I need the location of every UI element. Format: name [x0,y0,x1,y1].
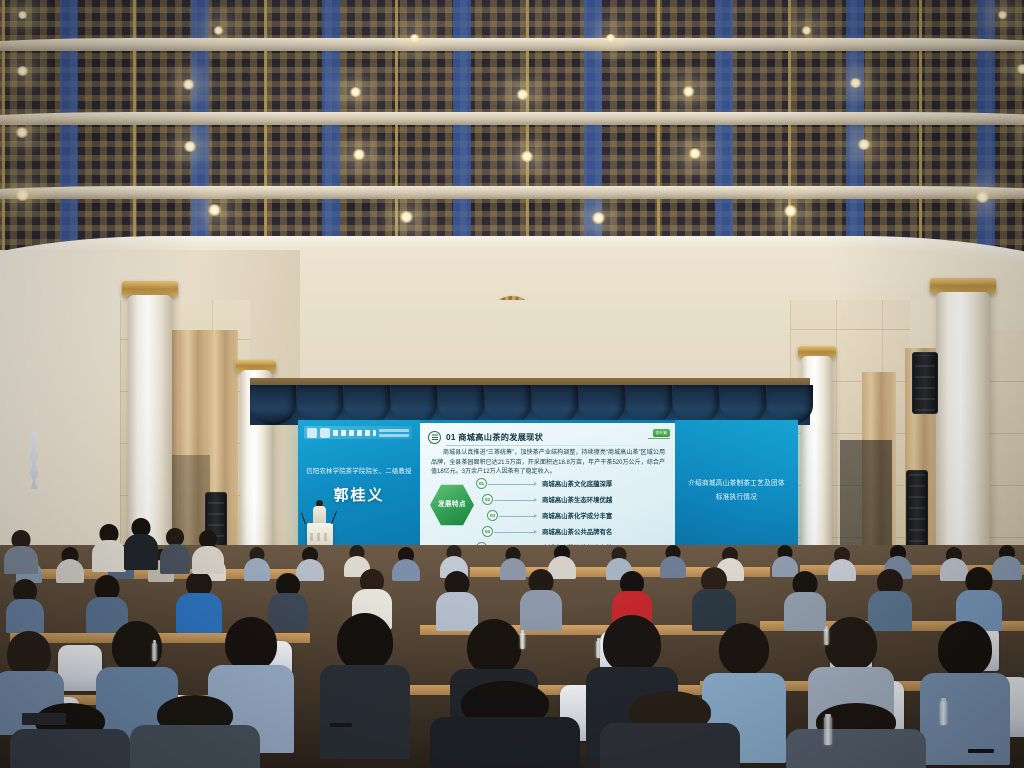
ceiling-downlight [997,11,1008,20]
bullet-text: 商城高山茶公共品牌有名 [542,527,612,536]
ceiling-downlight [857,139,871,150]
photographer [4,530,38,574]
water-bottle [520,633,525,649]
slide-content: 01 商城高山茶的发展现状 茶叶篇 商城县认真推进“三茶统筹”，加快茶产业结构调… [420,423,675,559]
attendee-foreground [430,681,580,768]
water-bottle [596,641,601,658]
bullet-number: 03 [487,510,498,521]
photographer [92,524,126,572]
feature-badge-label: 发展特点 [438,501,466,509]
ceiling-downlight [16,66,29,76]
attendee [692,567,736,631]
document-icon [428,431,441,444]
bullet-number: 01 [476,478,487,489]
laptop [22,713,66,725]
logo-wordmark [333,430,376,436]
slide-title: 01 商城高山茶的发展现状 [446,431,543,443]
screen-right-panel: 介绍商城高山茶制茶工艺及团体 标准执行情况 [675,420,798,562]
logo-subtitle-block [379,428,409,437]
list-item: 02 商城高山茶生态环境优越 [476,492,666,508]
bullet-number: 02 [482,494,493,505]
bullet-text: 商城高山茶生态环境优越 [542,495,612,504]
right-panel-line-2: 标准执行情况 [716,494,757,501]
logo-mark-icon-2 [320,428,330,438]
photographer [124,518,158,570]
audience-area [0,545,1024,768]
right-panel-line-1: 介绍商城高山茶制茶工艺及团体 [688,480,785,487]
slide-body-paragraph: 商城县认真推进“三茶统筹”，加快茶产业结构调整，持续擦亮“商城高山茶”区域公用品… [431,449,665,478]
ceiling-downlight [17,11,28,20]
attendee-foreground [130,695,260,768]
slide-bullet-list: 01 商城高山茶文化底蕴深厚 02 商城高山茶生态环境优越 03 商城高山茶化学… [476,476,666,556]
feature-badge: 发展特点 [430,483,474,527]
conference-hall-photo: 信阳农林学院茶学院院长、二级教授 郭桂义 01 商城高山茶的发展现状 茶叶篇 商… [0,0,1024,768]
attendee [660,545,686,578]
smartphone [968,749,994,753]
ceiling-downlight [409,34,420,43]
attendee [56,547,84,583]
ceiling-downlight [591,212,606,224]
photographer [192,530,224,574]
speaker-role: 信阳农林学院茶学院院长、二级教授 [302,468,416,476]
list-item: 04 商城高山茶公共品牌有名 [476,524,666,540]
ceiling-downlight [783,205,798,217]
slide-corner-tag: 茶叶篇 [653,429,670,437]
ceiling-downlight [682,86,695,96]
attendee [6,579,44,633]
ceiling-downlight [352,149,366,160]
ceiling-downlight [207,204,222,216]
ceiling-downlight [213,26,224,35]
ceiling-downlight [15,189,30,201]
logo-mark-icon [307,428,317,438]
line-array-speaker-top [912,352,938,414]
attendee-foreground [600,691,740,768]
ceiling-downlight [399,211,414,223]
list-item: 03 商城高山茶化学成分丰富 [476,508,666,524]
attendee [828,547,856,581]
led-presentation-screen: 信阳农林学院茶学院院长、二级教授 郭桂义 01 商城高山茶的发展现状 茶叶篇 商… [298,420,798,562]
list-item: 01 商城高山茶文化底蕴深厚 [476,476,666,492]
smartphone [330,723,352,727]
ceiling-downlight [605,34,616,43]
water-bottle [824,717,832,745]
ceiling-downlight [975,191,990,203]
ceiling-downlight [516,89,529,99]
water-bottle [152,643,157,661]
bullet-text: 商城高山茶化学成分丰富 [542,511,612,520]
water-bottle [824,629,829,645]
ceiling-downlight [801,26,812,35]
ceiling-downlight [849,78,862,88]
attendee-foreground [786,703,926,768]
attendee [244,547,270,581]
slide-header: 01 商城高山茶的发展现状 [428,429,667,445]
ceiling-downlight [688,148,702,159]
attendee [920,621,1010,765]
bullet-text: 商城高山茶文化底蕴深厚 [542,479,612,488]
conference-logo [304,426,412,439]
water-bottle [940,701,947,725]
photographer [160,528,190,574]
ceiling-downlight [182,79,195,89]
attendee [320,613,410,759]
stage-drapery [250,385,810,425]
slide-header-divider [446,445,646,446]
bullet-number: 04 [482,526,493,537]
slide-tag-underline [648,438,670,439]
attendee [392,547,420,581]
